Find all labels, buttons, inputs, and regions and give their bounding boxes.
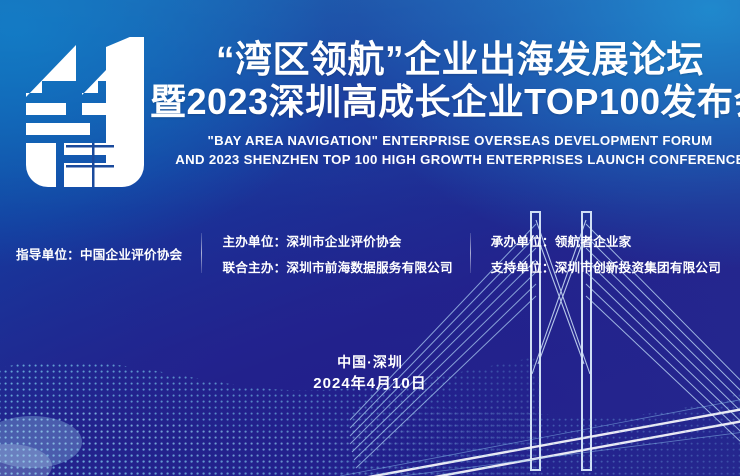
bay-area-navigation-emblem-icon [20,37,148,187]
organizer-divider-1 [201,233,202,273]
event-location: 中国·深圳 [0,352,740,373]
poster-header: “湾区领航”企业出海发展论坛 暨2023深圳高成长企业TOP100发布会 "BA… [0,36,740,198]
event-date: 2024年4月10日 [0,373,740,396]
organizer-line: 联合主办：深圳市前海数据服务有限公司 [222,257,469,276]
organizer-column-undertaker: 承办单位：领航者企业家 支持单位：深圳市创新投资集团有限公司 [491,231,740,276]
organizer-divider-2 [470,233,471,273]
organizer-line: 主办单位：深圳市企业评价协会 [222,231,469,250]
organizers-row: 指导单位：中国企业评价协会 主办单位：深圳市企业评价协会 联合主办：深圳市前海数… [0,222,740,284]
organizer-line: 支持单位：深圳市创新投资集团有限公司 [491,257,740,276]
organization-logo [18,36,150,188]
title-block: “湾区领航”企业出海发展论坛 暨2023深圳高成长企业TOP100发布会 "BA… [150,36,740,169]
title-chinese-line2: 暨2023深圳高成长企业TOP100发布会 [150,83,740,121]
event-info: 中国·深圳 2024年4月10日 [0,352,740,396]
organizer-column-guidance: 指导单位：中国企业评价协会 [16,244,201,263]
title-chinese-line1: “湾区领航”企业出海发展论坛 [150,40,740,79]
organizer-line: 指导单位：中国企业评价协会 [16,244,201,263]
organizer-line: 承办单位：领航者企业家 [491,231,740,250]
title-english-line1: "BAY AREA NAVIGATION" ENTERPRISE OVERSEA… [150,132,740,150]
dotted-mesh-wave-left [0,316,540,476]
title-english-line2: AND 2023 SHENZHEN TOP 100 HIGH GROWTH EN… [150,151,740,169]
organizer-column-host: 主办单位：深圳市企业评价协会 联合主办：深圳市前海数据服务有限公司 [222,231,469,276]
conference-poster: “湾区领航”企业出海发展论坛 暨2023深圳高成长企业TOP100发布会 "BA… [0,0,740,476]
